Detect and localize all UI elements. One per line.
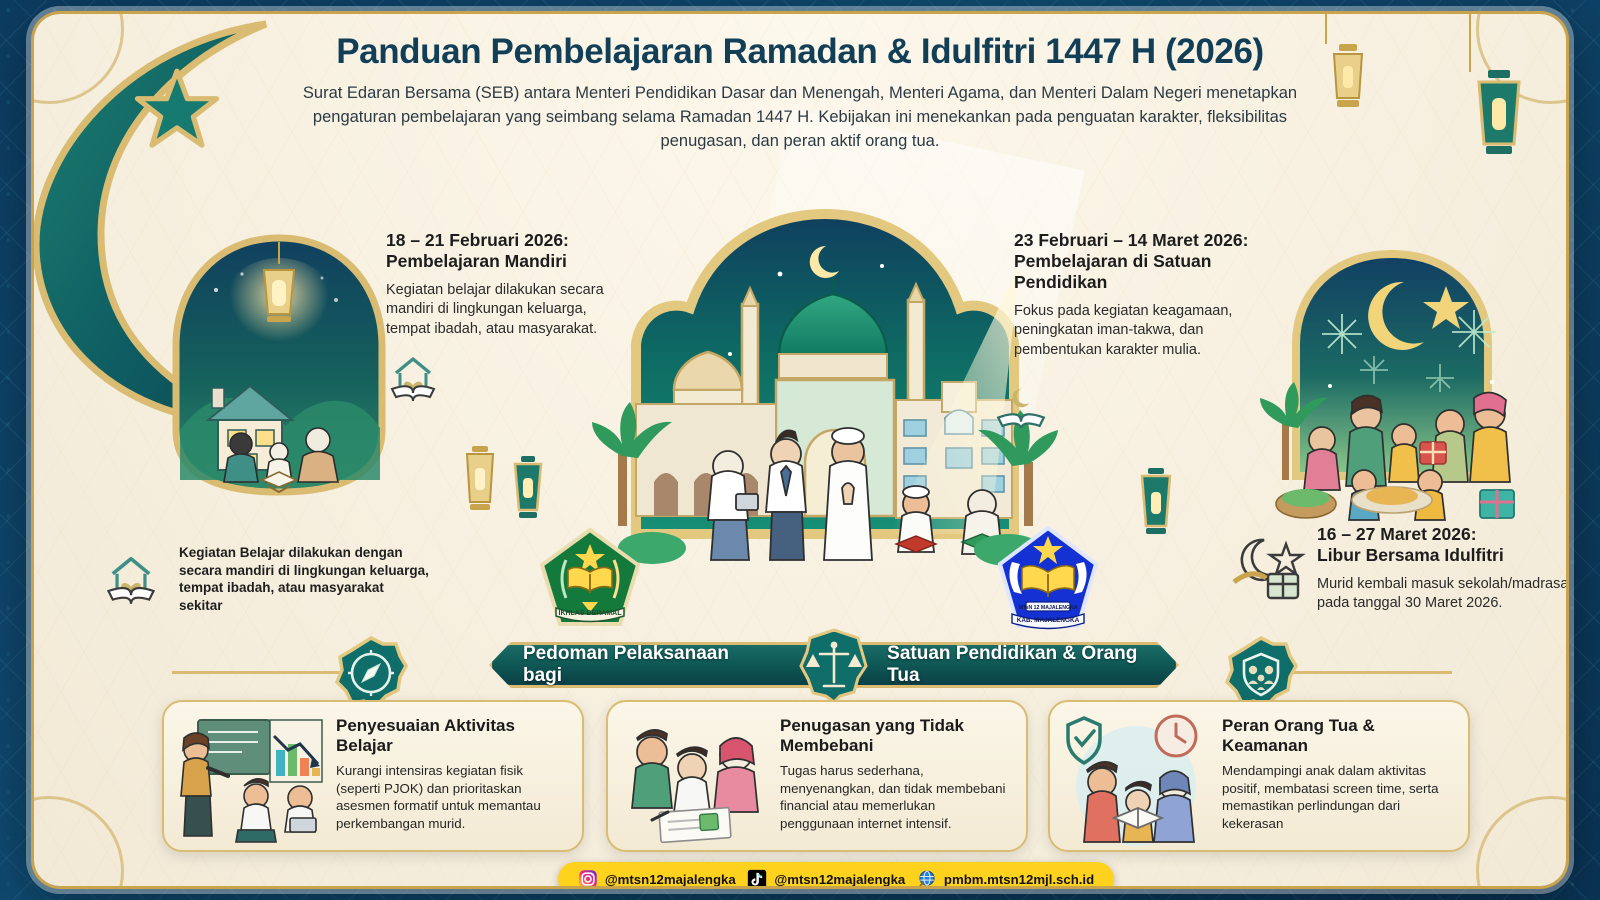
quran-book-icon [992,374,1050,428]
guideline-card-2[interactable]: Penugasan yang Tidak Membebani Tugas har… [606,700,1028,852]
poster-paper-surface: Panduan Pembelajaran Ramadan & Idulfitri… [34,14,1566,886]
banner-left-text: Pedoman Pelaksanaan bagi [523,643,817,687]
hanging-lantern-decoration [508,454,548,531]
eid-family-celebration-illustration [1244,246,1530,526]
kemenag-motto: IKHLAS BERAMAL [559,610,623,617]
lantern-icon [458,444,502,522]
page-subtitle: Surat Edaran Bersama (SEB) antara Menter… [300,82,1300,154]
footer-item-tiktok[interactable]: @mtsn12majalengka [747,869,905,886]
kemenag-logo: IKHLAS BERAMAL [538,526,642,630]
corner-arc-decoration [34,796,124,886]
website-globe-icon [917,869,937,886]
compass-badge [334,636,408,710]
card-body-1: Kurangi intensiras kegiatan fisik (seper… [336,762,568,832]
shield-family-badge [1224,636,1298,710]
home-heart-book-icon [386,351,440,401]
social-media-footer: @mtsn12majalengka @mtsn12majalengka pmbm… [558,862,1114,886]
lantern-icon [1134,466,1178,546]
family-home-learning-illustration [146,230,412,500]
moon-star-gift-icon [1230,530,1312,604]
card-title-2: Penugasan yang Tidak Membebani [780,716,1012,756]
timeline-heading-libur: Libur Bersama Idulfitri [1317,545,1566,566]
footer-label-website: pmbm.mtsn12mjl.sch.id [944,872,1094,887]
compass-icon [334,636,408,710]
poster-header: Panduan Pembelajaran Ramadan & Idulfitri… [34,32,1566,154]
guideline-card-1[interactable]: Penyesuaian Aktivitas Belajar Kurangi in… [162,700,584,852]
tiktok-icon [747,869,767,886]
footer-item-website[interactable]: pmbm.mtsn12mjl.sch.id [917,869,1094,886]
hanging-lantern-decoration [458,444,502,527]
timeline-body-libur: Murid kembali masuk sekolah/madrasah pad… [1317,575,1566,614]
timeline-date-libur: 16 – 27 Maret 2026: [1317,524,1566,545]
mosque-students-illustration [590,204,1060,604]
banner-connector-line-left [172,671,340,674]
hanging-lantern-decoration [1134,466,1178,551]
footer-item-instagram[interactable]: @mtsn12majalengka [578,869,736,886]
mtsn-logo-line1: MTsN 12 MAJALENGKA [1019,605,1078,611]
scales-of-justice-icon [796,628,872,704]
banner-pedoman: Pedoman Pelaksanaan bagi Satuan Pendidik… [489,642,1179,688]
timeline-block-libur: 16 – 27 Maret 2026: Libur Bersama Idulfi… [1317,524,1566,614]
teacher-chalkboard-chart-illustration [164,702,332,850]
card-title-3: Peran Orang Tua & Keamanan [1222,716,1454,756]
card-title-1: Penyesuaian Aktivitas Belajar [336,716,568,756]
home-heart-book-icon [102,550,160,604]
footer-label-tiktok: @mtsn12majalengka [774,872,905,887]
card-body-3: Mendampingi anak dalam aktivitas positif… [1222,762,1454,832]
mtsn12-majalengka-logo: MTsN 12 MAJALENGKA KAB. MAJALENGKA [996,522,1100,626]
instagram-icon [578,869,598,886]
banner-connector-line-right [1292,671,1452,674]
left-caption-block: Kegiatan Belajar dilakukan dengan secara… [179,544,429,614]
left-caption-text: Kegiatan Belajar dilakukan dengan secara… [179,544,429,614]
footer-label-instagram: @mtsn12majalengka [605,872,736,887]
corner-arc-decoration [1476,796,1566,886]
card-body-2: Tugas harus sederhana, menyenangkan, dan… [780,762,1012,832]
family-homework-illustration [608,702,776,850]
lantern-icon [508,454,548,526]
parents-reading-shield-clock-illustration [1050,702,1218,850]
poster-root: Panduan Pembelajaran Ramadan & Idulfitri… [0,0,1600,900]
page-title: Panduan Pembelajaran Ramadan & Idulfitri… [34,32,1566,72]
guideline-card-3[interactable]: Peran Orang Tua & Keamanan Mendampingi a… [1048,700,1470,852]
shield-family-icon [1224,636,1298,710]
mtsn-logo-line2: KAB. MAJALENGKA [1017,617,1080,624]
